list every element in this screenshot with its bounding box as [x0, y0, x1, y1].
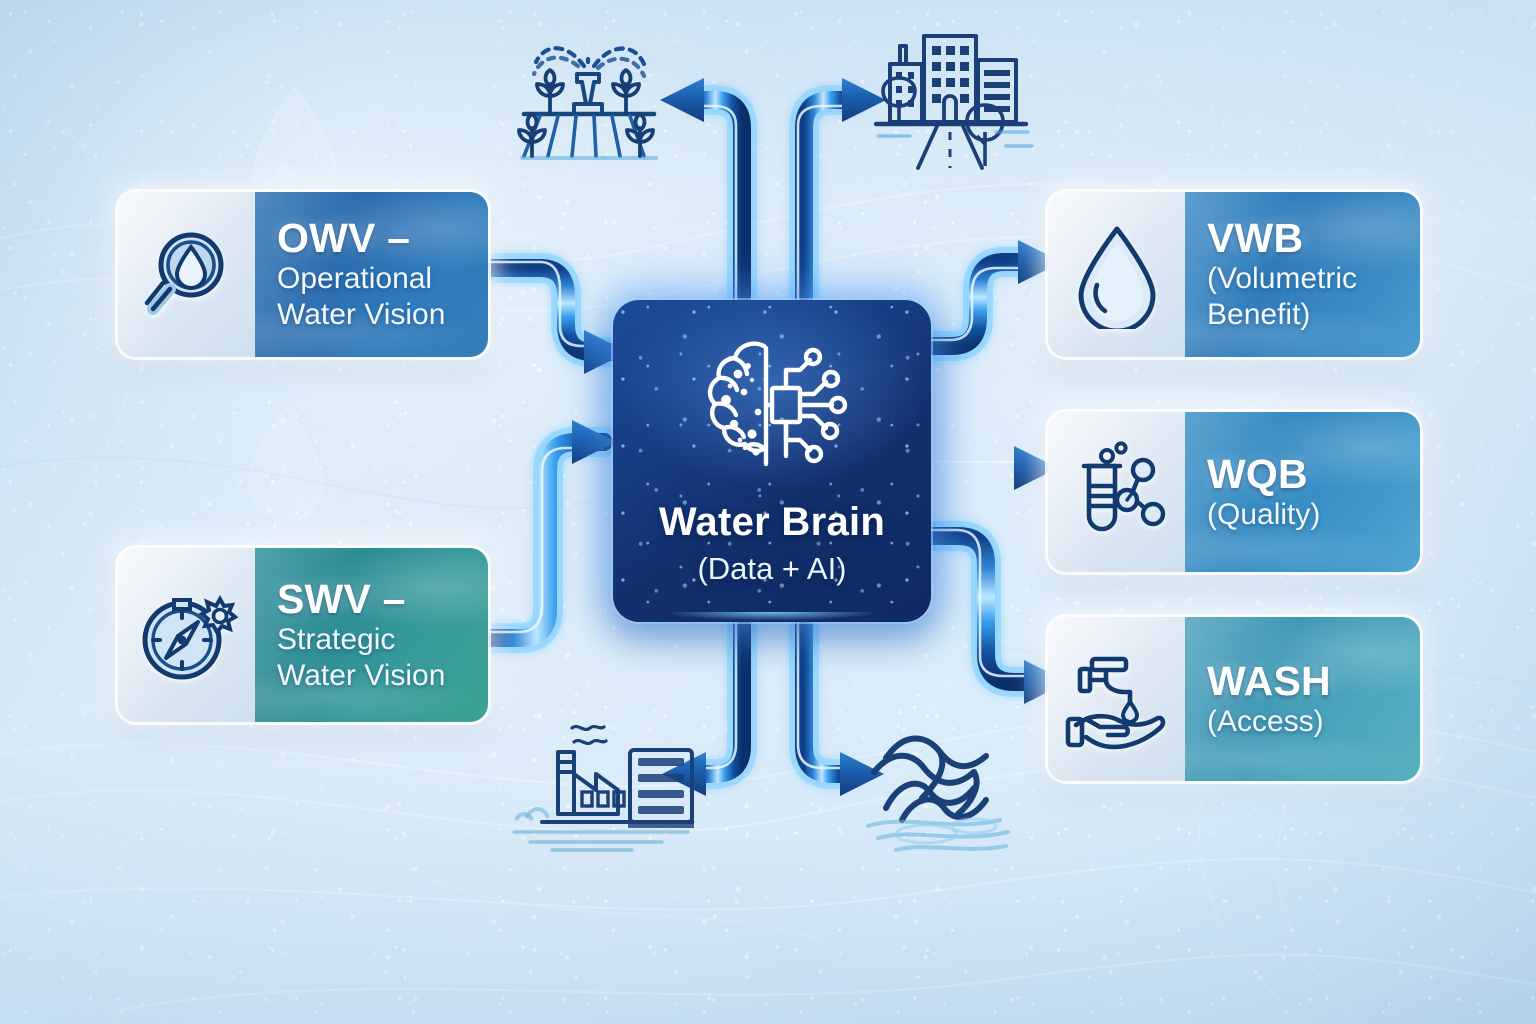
irrigation-sprinkler-crops-icon	[498, 22, 678, 172]
card-wqb-code: WQB	[1207, 454, 1400, 496]
card-wash-icon-area	[1048, 617, 1185, 781]
card-wash-label-line1: (Access)	[1207, 705, 1400, 739]
card-owv-body: OWV – Operational Water Vision	[255, 192, 488, 357]
card-wash[interactable]: WASH (Access)	[1048, 617, 1420, 781]
card-vwb[interactable]: VWB (Volumetric Benefit)	[1048, 192, 1420, 357]
water-droplet-icon	[1067, 221, 1167, 329]
river-waves-ecosystem-icon	[856, 722, 1036, 862]
card-wash-body: WASH (Access)	[1185, 617, 1420, 781]
connector-swv-to-hub	[488, 420, 616, 638]
sector-industry	[512, 716, 694, 856]
card-vwb-label-line2: Benefit)	[1207, 298, 1400, 332]
card-owv-icon-area	[118, 192, 255, 357]
card-swv-body: SWV – Strategic Water Vision	[255, 548, 488, 722]
card-vwb-body: VWB (Volumetric Benefit)	[1185, 192, 1420, 357]
card-wqb-body: WQB (Quality)	[1185, 412, 1420, 572]
ai-brain-circuit-icon	[692, 330, 852, 482]
card-owv-label-line1: Operational	[277, 262, 468, 296]
card-owv-code: OWV –	[277, 218, 468, 260]
hub-title: Water Brain	[659, 500, 885, 545]
card-owv[interactable]: OWV – Operational Water Vision	[118, 192, 488, 357]
card-wqb-icon-area	[1048, 412, 1185, 572]
card-wqb[interactable]: WQB (Quality)	[1048, 412, 1420, 572]
card-wqb-label-line1: (Quality)	[1207, 498, 1400, 532]
hub-subtitle: (Data + AI)	[697, 551, 846, 587]
tap-hand-icon	[1064, 647, 1170, 751]
sector-urban	[866, 20, 1036, 172]
test-tube-molecule-icon	[1065, 440, 1169, 544]
diagram-canvas: Water Brain (Data + AI) OWV – Operationa…	[0, 0, 1536, 1024]
card-swv[interactable]: SWV – Strategic Water Vision	[118, 548, 488, 722]
factory-industry-icon	[512, 716, 694, 856]
card-swv-icon-area	[118, 548, 255, 722]
card-owv-label-line2: Water Vision	[277, 298, 468, 332]
sector-nature	[856, 722, 1036, 862]
sector-agriculture	[498, 22, 678, 172]
card-wash-code: WASH	[1207, 661, 1400, 703]
compass-gear-icon	[136, 584, 238, 686]
hub-bottom-glow	[613, 612, 931, 622]
card-swv-code: SWV –	[277, 579, 468, 621]
card-vwb-code: VWB	[1207, 218, 1400, 260]
hub-water-brain[interactable]: Water Brain (Data + AI)	[613, 300, 931, 622]
connector-owv-to-hub	[488, 262, 628, 374]
city-buildings-road-icon	[866, 20, 1036, 172]
magnifier-droplet-icon	[139, 227, 235, 323]
card-vwb-icon-area	[1048, 192, 1185, 357]
connector-hub-to-vwb	[930, 240, 1062, 346]
card-swv-label-line2: Water Vision	[277, 659, 468, 693]
card-swv-label-line1: Strategic	[277, 623, 468, 657]
card-vwb-label-line1: (Volumetric	[1207, 262, 1400, 296]
connector-hub-to-wqb	[930, 446, 1058, 490]
